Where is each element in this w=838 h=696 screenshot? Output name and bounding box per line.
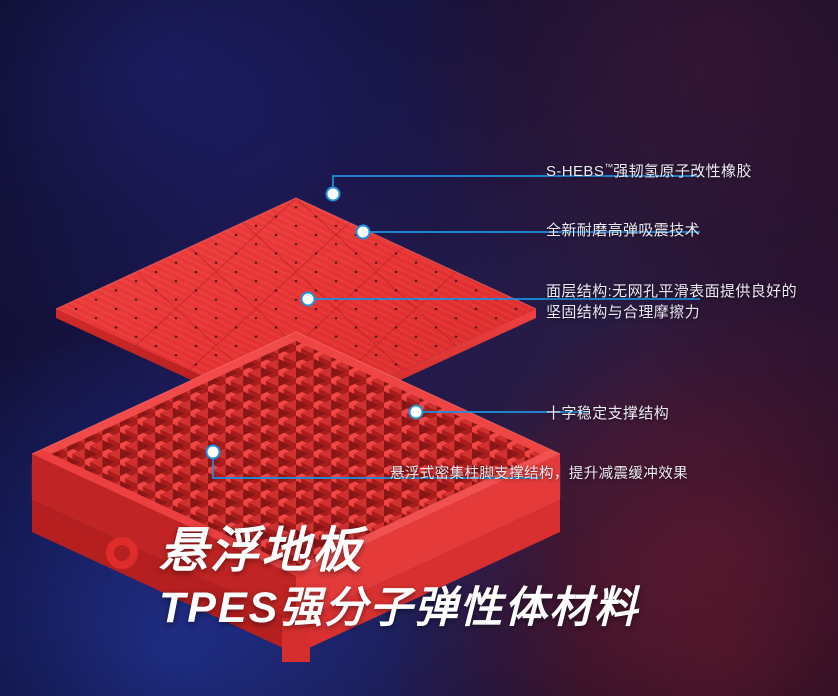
product-headline: 悬浮地板 TPES强分子弹性体材料 (106, 521, 806, 651)
callout-cross-support: 十字稳定支撑结构 (546, 403, 669, 424)
ring-bullet-icon (106, 537, 138, 569)
callout-wear-resistant: 全新耐磨高弹吸震技术 (546, 220, 700, 241)
page-title: 悬浮地板 (159, 527, 363, 576)
callout-suspended-columns: 悬浮式密集柱脚支撑结构，提升减震缓冲效果 (390, 464, 688, 485)
leader-dot-5 (207, 446, 220, 459)
callout-surface-structure: 面层结构:无网孔平滑表面提供良好的 坚固结构与合理摩擦力 (546, 281, 826, 324)
callout-surface-rubber: S-HEBS™强韧氢原子改性橡胶 (546, 161, 752, 182)
callout-1-prefix: S-HEBS (546, 163, 604, 180)
leader-dot-4 (410, 406, 423, 419)
leader-dot-2 (357, 226, 370, 239)
poster-canvas: S-HEBS™强韧氢原子改性橡胶 全新耐磨高弹吸震技术 面层结构:无网孔平滑表面… (0, 0, 838, 696)
trademark-icon: ™ (604, 162, 613, 172)
leader-dot-1 (327, 188, 340, 201)
leader-dot-3 (302, 293, 315, 306)
page-subtitle: TPES强分子弹性体材料 (159, 587, 639, 630)
callout-1-suffix: 强韧氢原子改性橡胶 (613, 163, 752, 180)
